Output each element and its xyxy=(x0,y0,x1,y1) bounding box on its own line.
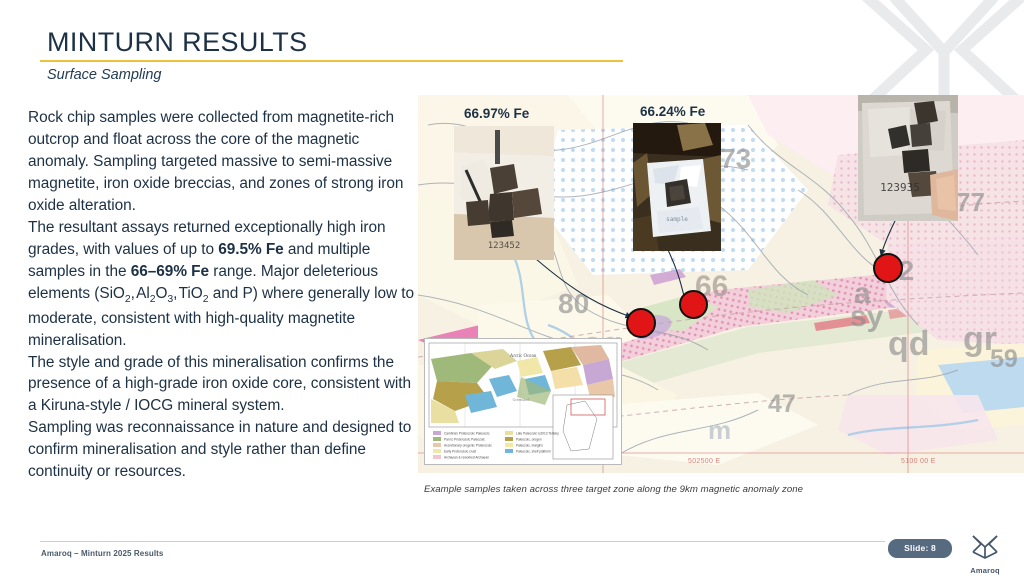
svg-text:Cambrian Proterozoic Paleozoic: Cambrian Proterozoic Paleozoic xyxy=(444,432,490,436)
svg-text:123452: 123452 xyxy=(488,241,521,251)
sample-photo-2-image: sample xyxy=(633,123,721,251)
regional-inset-map[interactable]: Arctic Ocean Greenland Cambrian Proteroz… xyxy=(424,338,622,465)
sample-dot-2[interactable] xyxy=(679,290,708,319)
page-subtitle: Surface Sampling xyxy=(47,67,161,83)
map-figure: 73 80 72 77 47 59 66 ag a sy qd gr m 502… xyxy=(418,95,1024,473)
slide-number-badge: Slide: 8 xyxy=(888,539,952,558)
sample-photo-3-image: 123935 xyxy=(858,95,958,221)
footer-divider xyxy=(40,541,885,542)
svg-text:Accretionary orogenic Proteroz: Accretionary orogenic Proterozoic xyxy=(444,444,492,448)
svg-text:Pan to Proterozoic Paleozoic: Pan to Proterozoic Paleozoic xyxy=(444,438,485,442)
paragraph-3: The style and grade of this mineralisati… xyxy=(28,352,418,418)
sample-photo-3[interactable]: 123935 xyxy=(858,95,958,221)
sample-photo-1-image: 123452 xyxy=(454,126,554,260)
paragraph-1: Rock chip samples were collected from ma… xyxy=(28,107,418,217)
max-grade-highlight: 69.5% Fe xyxy=(218,241,283,258)
svg-text:Early Proterozoic crust: Early Proterozoic crust xyxy=(444,450,476,454)
paragraph-2: The resultant assays returned exceptiona… xyxy=(28,217,418,352)
figure-caption: Example samples taken across three targe… xyxy=(424,484,803,495)
fe-label-1: 66.97% Fe xyxy=(464,106,529,121)
sample-dot-1[interactable] xyxy=(626,308,656,338)
svg-text:Greenland: Greenland xyxy=(513,397,530,402)
page-title: MINTURN RESULTS xyxy=(47,27,308,58)
svg-text:Paleozoic, orogen: Paleozoic, orogen xyxy=(516,438,542,442)
brand-name: Amaroq xyxy=(960,566,1010,575)
grade-range-highlight: 66–69% Fe xyxy=(131,263,209,280)
svg-text:Paleozoic, margins: Paleozoic, margins xyxy=(516,444,543,448)
fe-label-2: 66.24% Fe xyxy=(640,104,705,119)
body-copy: Rock chip samples were collected from ma… xyxy=(28,107,418,483)
svg-text:Arctic Ocean: Arctic Ocean xyxy=(510,354,537,359)
svg-text:123935: 123935 xyxy=(880,181,920,194)
svg-text:Archaean & reworked Archaean: Archaean & reworked Archaean xyxy=(444,456,489,460)
svg-text:Late Paleozoic \u2013 Tertiary: Late Paleozoic \u2013 Tertiary xyxy=(516,432,559,436)
sample-dot-3[interactable] xyxy=(873,253,903,283)
footer-text: Amaroq – Minturn 2025 Results xyxy=(41,549,164,558)
paragraph-4: Sampling was reconnaissance in nature an… xyxy=(28,417,418,483)
sample-photo-1[interactable]: 123452 xyxy=(454,126,554,260)
svg-text:sample: sample xyxy=(666,216,688,223)
amaroq-fox-icon xyxy=(970,533,1000,560)
regional-inset-image: Arctic Ocean Greenland Cambrian Proteroz… xyxy=(425,339,621,464)
geological-map[interactable]: 73 80 72 77 47 59 66 ag a sy qd gr m 502… xyxy=(418,95,1024,473)
slide-canvas: MINTURN RESULTS Surface Sampling Rock ch… xyxy=(0,0,1024,576)
brand-logo: Amaroq xyxy=(960,533,1010,575)
title-divider xyxy=(40,60,623,62)
svg-text:Paleozoic, shelf platform: Paleozoic, shelf platform xyxy=(516,450,551,454)
sample-photo-2[interactable]: sample xyxy=(633,123,721,251)
